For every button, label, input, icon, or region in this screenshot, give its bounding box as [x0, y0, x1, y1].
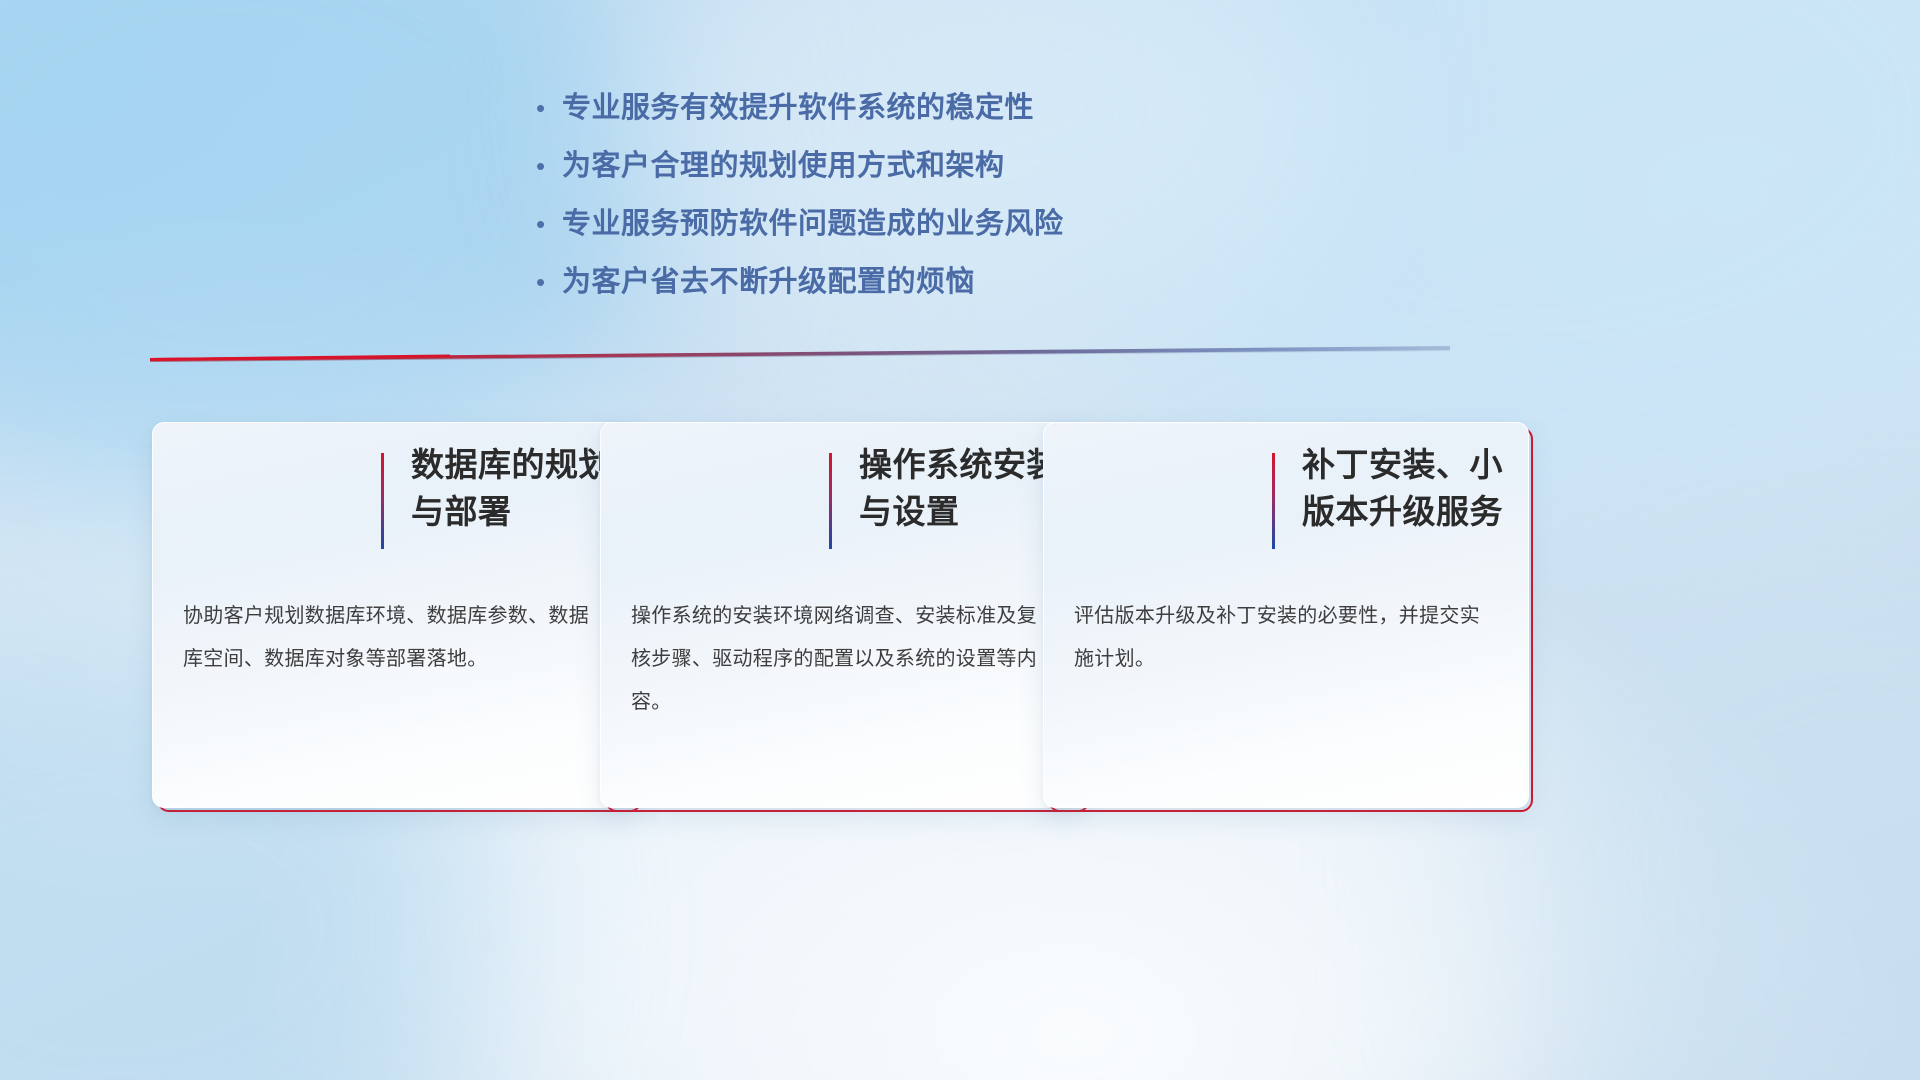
card-number-03-graphic: 03 [1072, 445, 1262, 565]
card-header: 01 数 [153, 423, 637, 583]
service-card-group: 01 数 [0, 0, 1920, 1080]
service-card[interactable]: 03 补 [1043, 422, 1533, 812]
card-header: 02 操 [601, 423, 1085, 583]
card-title: 操作系统安装与设置 [859, 441, 1069, 535]
card-title-divider [829, 453, 832, 549]
service-card[interactable]: 01 数 [152, 422, 642, 812]
card-surface: 02 操 [600, 422, 1086, 808]
card-description: 操作系统的安装环境网络调查、安装标准及复核步骤、驱动程序的配置以及系统的设置等内… [631, 595, 1051, 724]
card-title-divider [381, 453, 384, 549]
card-title: 数据库的规划与部署 [411, 441, 621, 535]
service-card[interactable]: 02 操 [600, 422, 1090, 812]
card-description: 协助客户规划数据库环境、数据库参数、数据库空间、数据库对象等部署落地。 [183, 595, 603, 681]
card-description: 评估版本升级及补丁安装的必要性，并提交实施计划。 [1074, 595, 1494, 681]
slide-canvas: • 专业服务有效提升软件系统的稳定性 • 为客户合理的规划使用方式和架构 • 专… [0, 0, 1920, 1080]
card-surface: 03 补 [1043, 422, 1529, 808]
card-surface: 01 数 [152, 422, 638, 808]
card-header: 03 补 [1044, 423, 1528, 583]
card-number-01-graphic: 01 [181, 445, 371, 565]
card-title: 补丁安装、小版本升级服务 [1302, 441, 1512, 535]
card-title-divider [1272, 453, 1275, 549]
card-number-02-graphic: 02 [629, 445, 819, 565]
